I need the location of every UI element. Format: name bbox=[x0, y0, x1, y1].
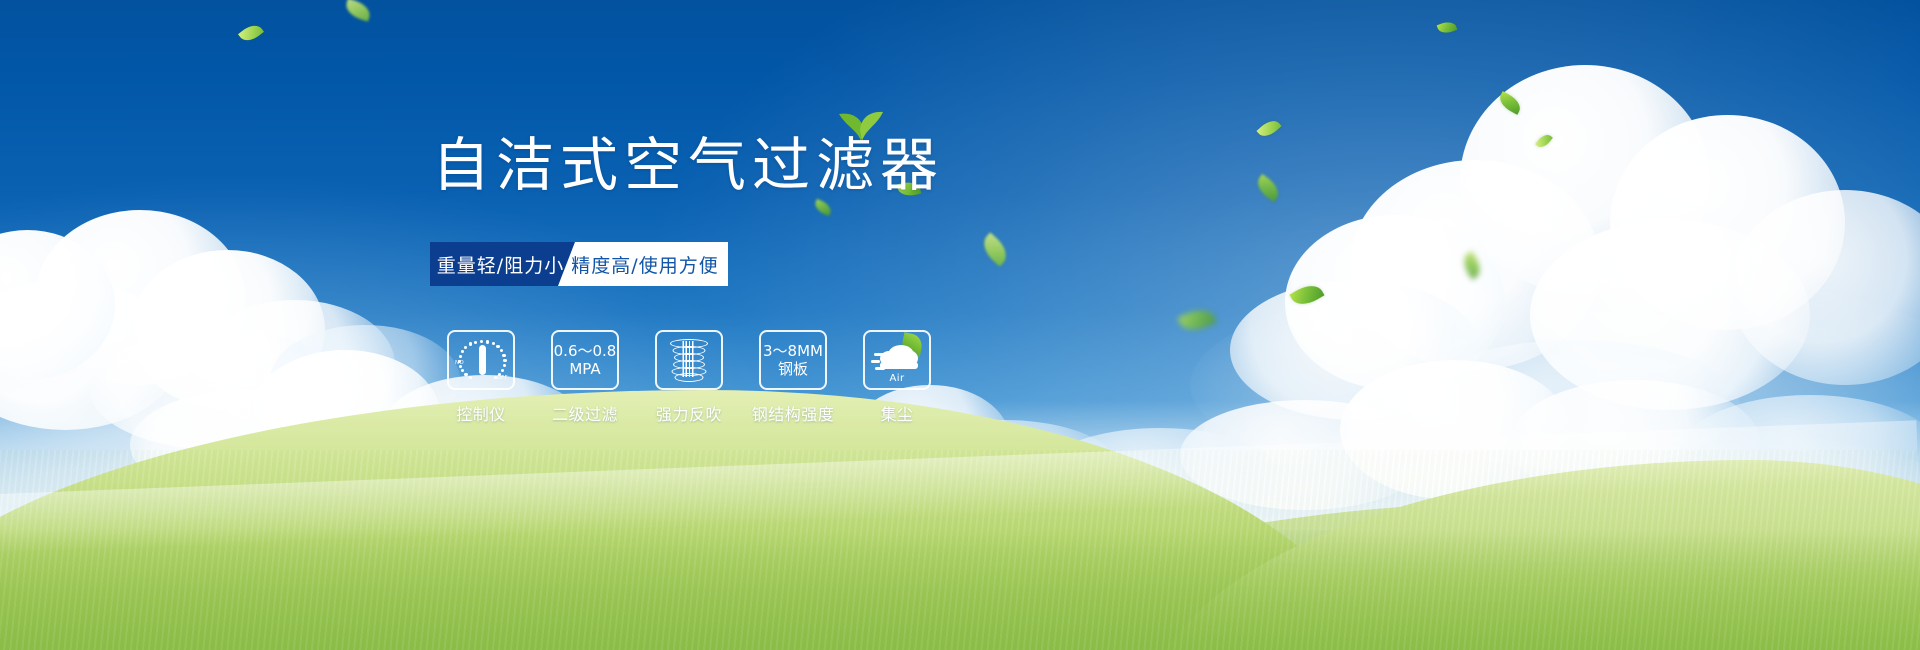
gauge-label-no: NO bbox=[455, 360, 464, 366]
gauge-label-off: OFF bbox=[496, 375, 508, 381]
air-cloud-icon: Air bbox=[870, 337, 924, 383]
feature-label: 强力反吹 bbox=[656, 401, 722, 425]
feature-item-controller[interactable]: NO OFF 控制仪 bbox=[440, 330, 522, 425]
tab-label: 精度高/使用方便 bbox=[571, 251, 718, 278]
pressure-value: 0.6～0.8 bbox=[554, 342, 617, 360]
pressure-unit: MPA bbox=[569, 360, 600, 378]
gauge-needle-icon bbox=[479, 345, 486, 375]
banner-content: 自洁式空气过滤器 重量轻/阻力小 精度高/使用方便 bbox=[0, 0, 1920, 650]
feature-item-two-stage-filter[interactable]: 0.6～0.8 MPA 二级过滤 bbox=[544, 330, 626, 425]
feature-icon-box: Air bbox=[863, 330, 931, 390]
feature-item-dust-collection[interactable]: Air 集尘 bbox=[856, 330, 938, 425]
steel-material: 钢板 bbox=[778, 360, 808, 378]
feature-label: 控制仪 bbox=[456, 401, 506, 425]
tab-label: 重量轻/阻力小 bbox=[437, 251, 564, 278]
page-title: 自洁式空气过滤器 bbox=[432, 132, 944, 198]
feature-icon-box: 3～8MM 钢板 bbox=[759, 330, 827, 390]
promo-banner: 自洁式空气过滤器 重量轻/阻力小 精度高/使用方便 bbox=[0, 0, 1920, 650]
feature-tab-group: 重量轻/阻力小 精度高/使用方便 bbox=[430, 242, 728, 286]
steel-thickness: 3～8MM bbox=[763, 342, 823, 360]
air-label: Air bbox=[870, 373, 924, 384]
feature-label: 二级过滤 bbox=[552, 401, 618, 425]
tab-weight-resistance[interactable]: 重量轻/阻力小 bbox=[430, 242, 575, 286]
feature-label: 钢结构强度 bbox=[752, 401, 835, 425]
gauge-icon: NO OFF bbox=[456, 338, 506, 382]
feature-icon-box: NO OFF bbox=[447, 330, 515, 390]
feature-item-blowback[interactable]: 强力反吹 bbox=[648, 330, 730, 425]
feature-icon-box bbox=[655, 330, 723, 390]
coil-blowback-icon bbox=[666, 337, 712, 383]
feature-icon-box: 0.6～0.8 MPA bbox=[551, 330, 619, 390]
feature-item-steel-strength[interactable]: 3～8MM 钢板 钢结构强度 bbox=[752, 330, 834, 425]
feature-icon-row: NO OFF 控制仪 0.6～0.8 MPA 二级过滤 bbox=[440, 330, 938, 425]
tab-precision-convenience[interactable]: 精度高/使用方便 bbox=[558, 242, 728, 286]
feature-label: 集尘 bbox=[880, 401, 913, 425]
